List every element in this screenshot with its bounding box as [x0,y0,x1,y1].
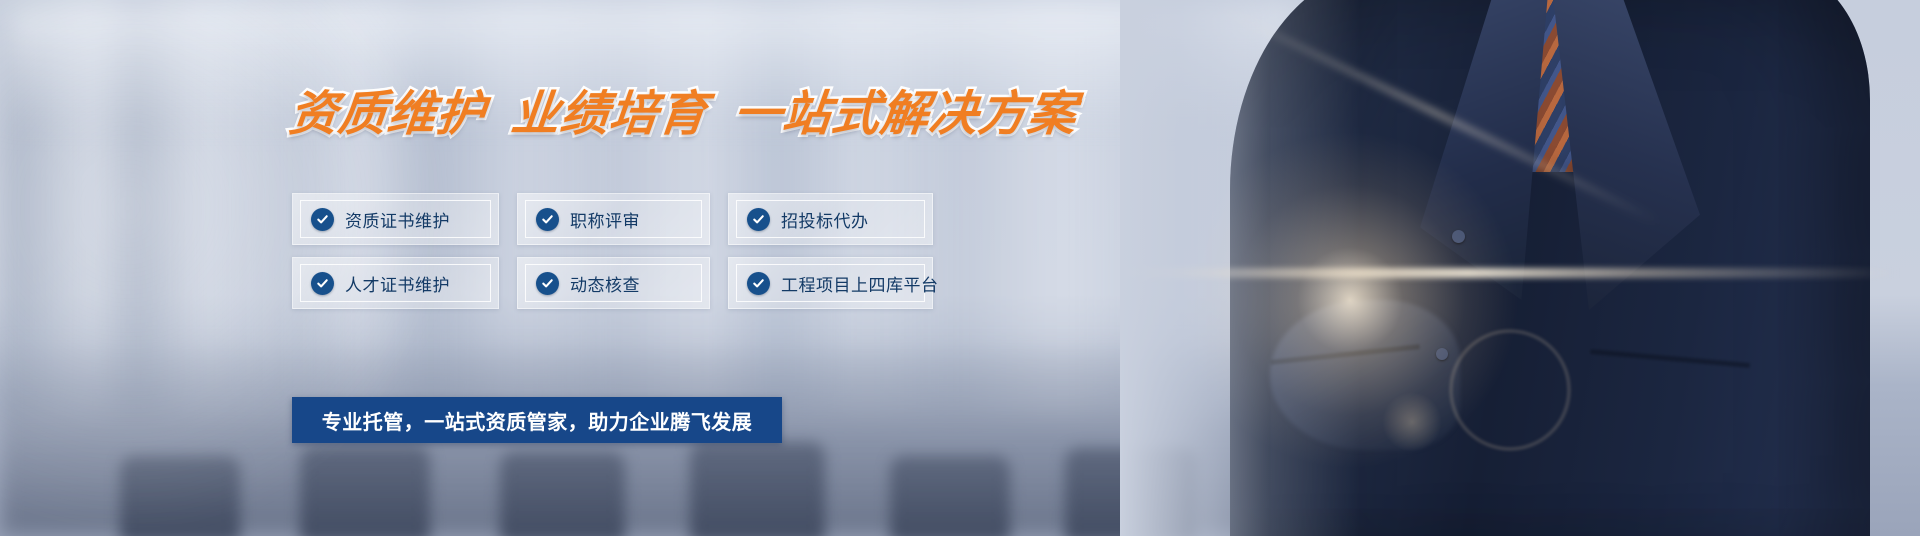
feature-row-2: 人才证书维护 动态核查 工程项目上四库平台 [292,257,933,309]
feature-label: 人才证书维护 [345,271,450,296]
check-circle-icon [747,208,770,231]
feature-card-talent-certificate-maintenance[interactable]: 人才证书维护 [292,257,499,309]
promo-banner: 资质维护业绩培育一站式解决方案 资质证书维护 职称评审 [0,0,1920,536]
banner-content: 资质维护业绩培育一站式解决方案 资质证书维护 职称评审 [0,0,1250,536]
check-circle-icon [536,208,559,231]
feature-label: 资质证书维护 [345,207,450,232]
feature-label: 职称评审 [570,207,640,232]
feature-grid: 资质证书维护 职称评审 招投标代办 [292,193,933,321]
tagline-banner: 专业托管，一站式资质管家，助力企业腾飞发展 [292,397,782,443]
check-circle-icon [747,272,770,295]
check-circle-icon [311,208,334,231]
headline-part-1: 资质维护 [287,88,489,141]
headline-part-3: 一站式解决方案 [731,88,1080,141]
check-circle-icon [311,272,334,295]
check-circle-icon [536,272,559,295]
feature-label: 工程项目上四库平台 [781,271,939,296]
feature-card-bidding-agency[interactable]: 招投标代办 [728,193,933,245]
feature-card-dynamic-verification[interactable]: 动态核查 [517,257,710,309]
feature-label: 招投标代办 [781,207,869,232]
feature-card-qualification-certificate-maintenance[interactable]: 资质证书维护 [292,193,499,245]
tagline-text: 专业托管，一站式资质管家，助力企业腾飞发展 [322,406,753,435]
feature-row-1: 资质证书维护 职称评审 招投标代办 [292,193,933,245]
feature-label: 动态核查 [570,271,640,296]
feature-card-title-evaluation[interactable]: 职称评审 [517,193,710,245]
feature-card-project-four-database-platform[interactable]: 工程项目上四库平台 [728,257,933,309]
banner-headline: 资质维护业绩培育一站式解决方案 [286,74,1080,144]
headline-part-2: 业绩培育 [509,88,711,141]
